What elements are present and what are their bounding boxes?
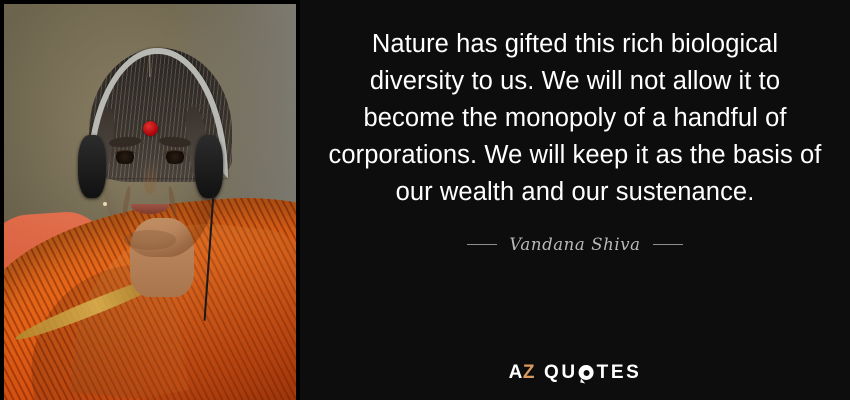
- logo-az-text: AZ: [509, 363, 535, 382]
- logo-quotes-text: QU TES: [544, 363, 641, 382]
- logo-quotes-prefix: QU: [544, 363, 578, 382]
- attribution-dash-right: [653, 244, 683, 245]
- portrait-image: [4, 4, 296, 400]
- logo-quotes-suffix: TES: [597, 363, 642, 382]
- logo-letter-z: Z: [523, 362, 535, 383]
- headphone-earcup-left: [78, 135, 106, 198]
- azquotes-logo[interactable]: AZ QU TES: [509, 363, 642, 382]
- speech-bubble-icon: [579, 365, 594, 380]
- headphone-earcup-right: [195, 135, 223, 198]
- attribution-dash-left: [467, 244, 497, 245]
- quote-text: Nature has gifted this rich biological d…: [323, 26, 828, 211]
- author-name: Vandana Shiva: [509, 235, 640, 254]
- quote-card: Nature has gifted this rich biological d…: [0, 0, 850, 400]
- quote-panel: Nature has gifted this rich biological d…: [300, 0, 850, 400]
- attribution: Vandana Shiva: [467, 235, 682, 254]
- chin-shadow: [124, 230, 177, 250]
- portrait-panel: [0, 0, 300, 400]
- logo-letter-a: A: [509, 362, 523, 383]
